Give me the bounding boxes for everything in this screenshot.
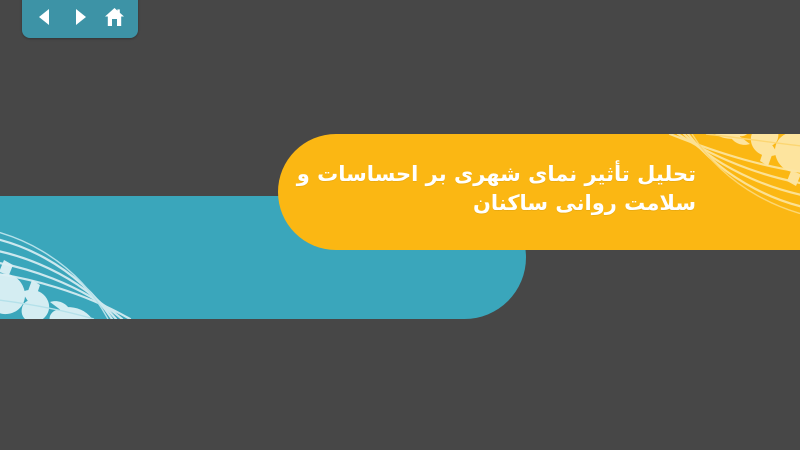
- page-title: تحلیل تأثیر نمای شهری بر احساسات و سلامت…: [136, 160, 696, 218]
- forward-button[interactable]: [66, 4, 94, 30]
- page-title-line-2: سلامت روانی ساکنان: [136, 189, 696, 218]
- navigation-bar: [22, 0, 138, 38]
- slide-canvas: تحلیل تأثیر نمای شهری بر احساسات و سلامت…: [0, 0, 800, 450]
- triangle-right-icon: [70, 7, 90, 27]
- home-icon: [104, 7, 125, 28]
- home-button[interactable]: [101, 4, 129, 30]
- page-title-line-1: تحلیل تأثیر نمای شهری بر احساسات و: [136, 160, 696, 189]
- back-button[interactable]: [31, 4, 59, 30]
- triangle-left-icon: [35, 7, 55, 27]
